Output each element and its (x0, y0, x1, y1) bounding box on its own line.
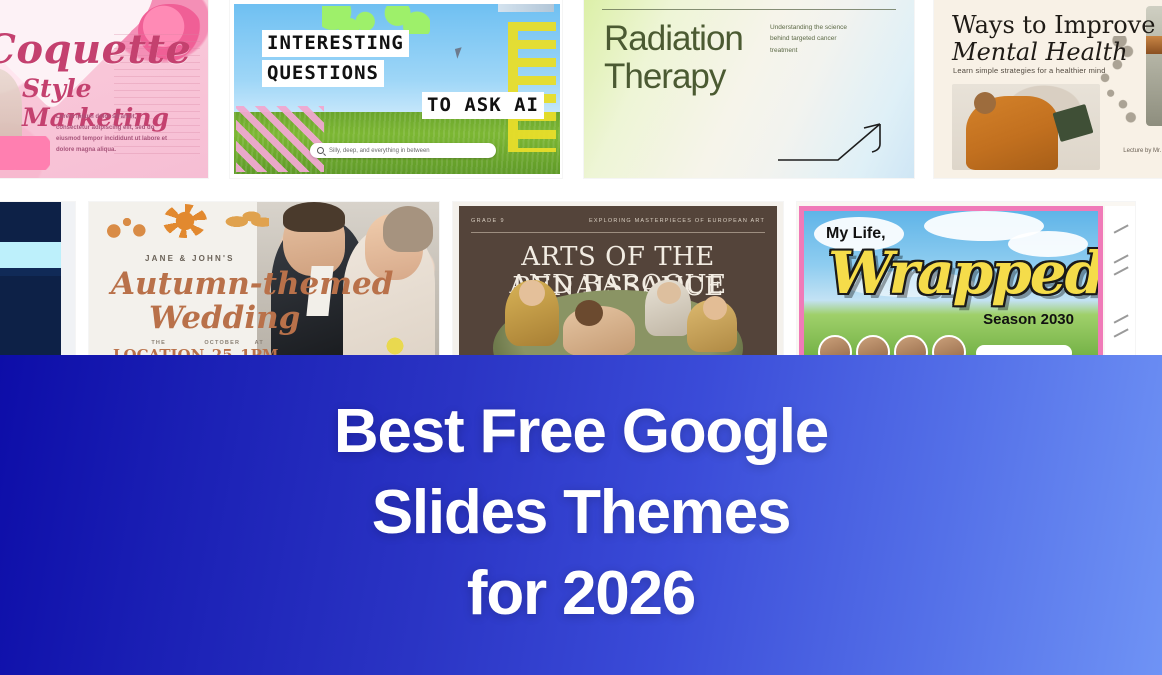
next-card-peek[interactable] (1105, 206, 1135, 360)
slide-title-line-1: Autumn-themed (111, 266, 393, 302)
slide-canvas: INTERESTING QUESTIONS TO ASK AI Silly, d… (234, 4, 560, 174)
slide-canvas: My Life, Wrapped Season 2030 (804, 211, 1098, 355)
painting-figure-head (519, 280, 545, 306)
thumbnail-card-coquette[interactable]: Coquette Style Marketing Lorem ipsum dol… (0, 0, 208, 178)
slide-title-line-2: Wrapped (828, 239, 1098, 307)
search-icon (317, 147, 324, 154)
slide-title: Radiation Therapy (604, 20, 743, 96)
avatar (818, 335, 852, 355)
title-banner: Best Free Google Slides Themes for 2026 (0, 355, 1162, 675)
subject-label: EXPLORING MASTERPIECES OF EUROPEAN ART (589, 218, 765, 224)
autumn-flower-icon (163, 204, 207, 238)
thumbnail-card-strategy-marketing[interactable]: GY & ETING 2030 (0, 202, 75, 360)
slide-title-line-1: INTERESTING (262, 30, 409, 57)
bow-icon (0, 136, 50, 170)
slide-title-line-2: Therapy (604, 57, 725, 96)
thumbnail-card-mental-health[interactable]: Ways to Improve Mental Health Learn simp… (934, 0, 1162, 178)
slide-title-line-2: Wedding (149, 300, 300, 336)
slide-body-text: Lorem ipsum dolor sit amet, consectetur … (56, 112, 168, 156)
slide-title-line-1: Ways to Improve (952, 11, 1155, 39)
painting-figure-head (657, 282, 681, 304)
slide-photo (952, 84, 1100, 170)
slide-title-line-2: Mental Health (952, 38, 1128, 66)
slide-credit: Lecture by Mr. Inigo (1123, 148, 1162, 154)
pink-frame: My Life, Wrapped Season 2030 (799, 206, 1103, 360)
divider (471, 232, 765, 233)
painting-figure-head (575, 300, 603, 326)
thumbnail-card-autumn-wedding[interactable]: JANE & JOHN'S Autumn-themed Wedding THE … (89, 202, 439, 360)
card-edge (61, 202, 75, 360)
slide-subtitle: Learn simple strategies for a healthier … (953, 66, 1106, 75)
avatar (894, 335, 928, 355)
bride-hair (383, 206, 433, 252)
search-input[interactable]: Silly, deep, and everything in between (310, 143, 496, 158)
slide-title-line-2: QUESTIONS (262, 60, 384, 87)
slide-canvas: GRADE 9 EXPLORING MASTERPIECES OF EUROPE… (459, 206, 777, 360)
person-head (974, 92, 996, 114)
thumbnail-card-my-life-wrapped[interactable]: My Life, Wrapped Season 2030 (797, 202, 1135, 360)
couple-names: JANE & JOHN'S (145, 254, 235, 263)
avatar (932, 335, 966, 355)
pixel-snake-pink (236, 106, 324, 172)
thumbnail-row-1: Coquette Style Marketing Lorem ipsum dol… (0, 0, 1162, 178)
arrow-icon (776, 110, 896, 168)
page-title-line-2: Slides Themes (0, 472, 1162, 553)
slide-title-line-3: TO ASK AI (422, 92, 544, 119)
avatar (856, 335, 890, 355)
slide-title: Ways to Improve Mental Health (952, 12, 1155, 67)
page-title: Best Free Google Slides Themes for 2026 (0, 391, 1162, 635)
page-title-line-3: for 2026 (0, 553, 1162, 634)
page-title-line-1: Best Free Google (0, 391, 1162, 472)
painting-figure-head (703, 296, 727, 320)
window-chrome-decoration (498, 4, 554, 12)
thumbnail-card-radiation-therapy[interactable]: Radiation Therapy Understanding the scie… (584, 0, 914, 178)
slide-title-line-1: Radiation (604, 19, 743, 58)
slide-title-line-3: Season 2030 (983, 311, 1074, 328)
thumbnail-row-2: GY & ETING 2030 JANE & JOHN'S Autumn-the… (0, 202, 1162, 360)
slide-button[interactable] (976, 345, 1072, 355)
berry-branch-icon (105, 210, 149, 240)
slide-title: Coquette (0, 26, 191, 73)
autumn-leaf-icon (223, 206, 269, 232)
thumbnail-card-renaissance[interactable]: GRADE 9 EXPLORING MASTERPIECES OF EUROPE… (453, 202, 783, 360)
grade-label: GRADE 9 (471, 218, 505, 224)
slide-subtitle: Understanding the science behind targete… (770, 22, 860, 56)
groom-hair (283, 202, 345, 232)
divider (602, 9, 896, 10)
pixel-snake-yellow (508, 22, 556, 152)
avatar-group (818, 335, 966, 355)
book-icon (1053, 104, 1094, 142)
search-placeholder: Silly, deep, and everything in between (329, 148, 430, 154)
thumbnail-card-ask-ai[interactable]: INTERESTING QUESTIONS TO ASK AI Silly, d… (230, 0, 562, 178)
